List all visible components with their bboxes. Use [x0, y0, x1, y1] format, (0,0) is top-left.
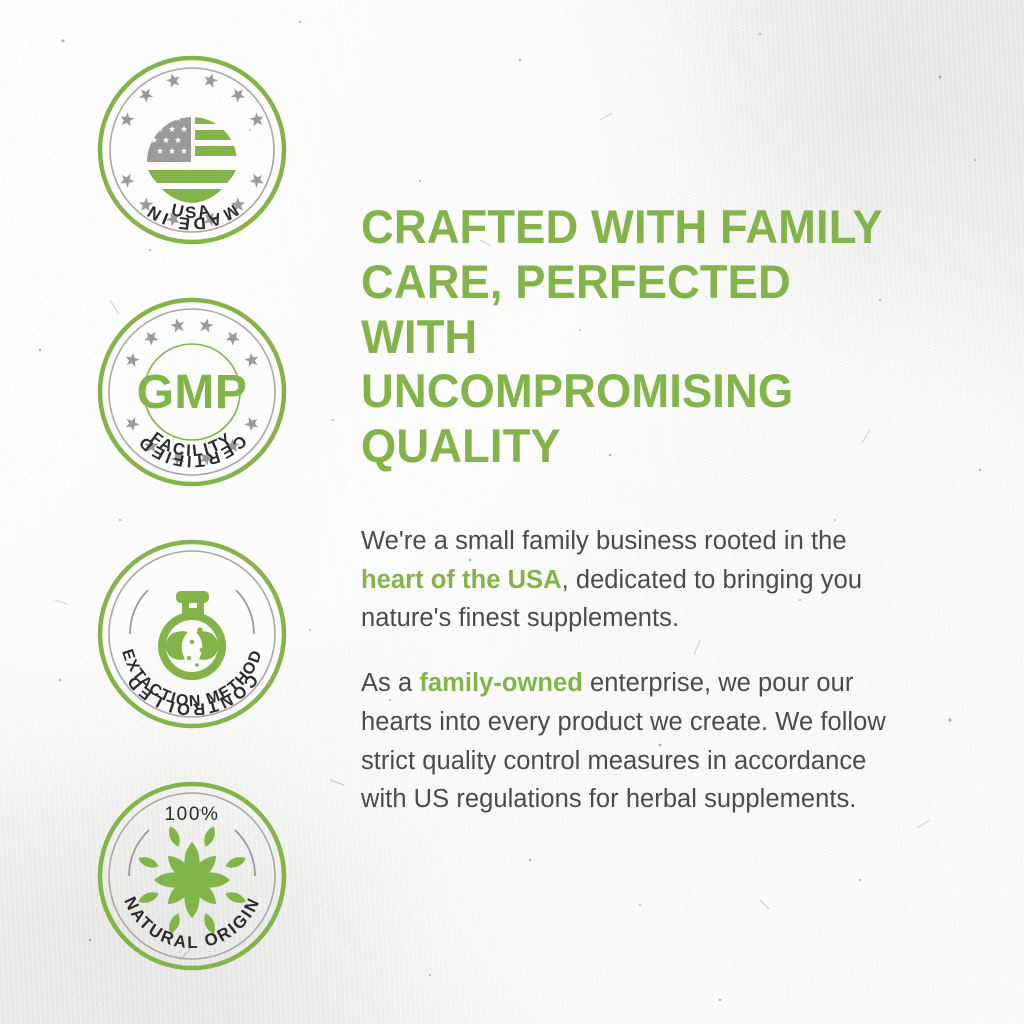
- paragraph-two: As a family-owned enterprise, we pour ou…: [361, 664, 886, 819]
- flask-leaf-icon: CONTROLLED EXTACTION METHOD: [96, 538, 288, 730]
- body-copy: We're a small family business rooted in …: [361, 522, 886, 819]
- usa-flag-icon: [147, 109, 239, 203]
- paragraph-one-part-a: We're a small family business rooted in …: [361, 527, 847, 555]
- badge-top-label: 100%: [165, 804, 220, 825]
- paragraph-two-part-a: As a: [361, 669, 419, 697]
- paragraph-one-highlight: heart of the USA: [361, 566, 562, 594]
- inner-gray-ring: [109, 551, 275, 717]
- badge-made-in-usa: MADE IN USA: [96, 54, 288, 246]
- badge-gmp-certified: GMP CERTIFIED FACILITY: [96, 296, 288, 488]
- badge-controlled-extraction: CONTROLLED EXTACTION METHOD: [96, 538, 288, 730]
- headline-line-2: CARE, PERFECTED WITH: [361, 255, 791, 363]
- made-in-usa-seal: MADE IN USA: [96, 54, 288, 246]
- gmp-seal-icon: GMP CERTIFIED FACILITY: [96, 296, 288, 488]
- promo-card: MADE IN USA: [0, 0, 1024, 1024]
- gmp-center-label: GMP: [137, 366, 248, 419]
- paragraph-one: We're a small family business rooted in …: [361, 522, 886, 638]
- trust-badge-column: MADE IN USA: [96, 54, 296, 1022]
- leaf-rosette-icon: 100% NATURAL ORIGIN: [96, 780, 288, 972]
- headline-line-3: UNCOMPROMISING: [361, 364, 793, 417]
- left-arc-accent: [130, 590, 148, 634]
- badge-natural-origin: 100% NATURAL ORIGIN: [96, 780, 288, 972]
- headline-line-1: CRAFTED WITH FAMILY: [361, 200, 883, 253]
- badge-bottom-label: USA: [170, 200, 215, 222]
- right-arc-accent: [235, 830, 255, 876]
- left-arc-accent: [129, 830, 149, 876]
- flask-graphic: [158, 591, 226, 680]
- page-headline: CRAFTED WITH FAMILY CARE, PERFECTED WITH…: [361, 200, 901, 474]
- headline-line-4: QUALITY: [361, 419, 561, 472]
- paragraph-two-highlight: family-owned: [419, 669, 583, 697]
- content-column: CRAFTED WITH FAMILY CARE, PERFECTED WITH…: [361, 200, 921, 819]
- right-arc-accent: [236, 590, 254, 634]
